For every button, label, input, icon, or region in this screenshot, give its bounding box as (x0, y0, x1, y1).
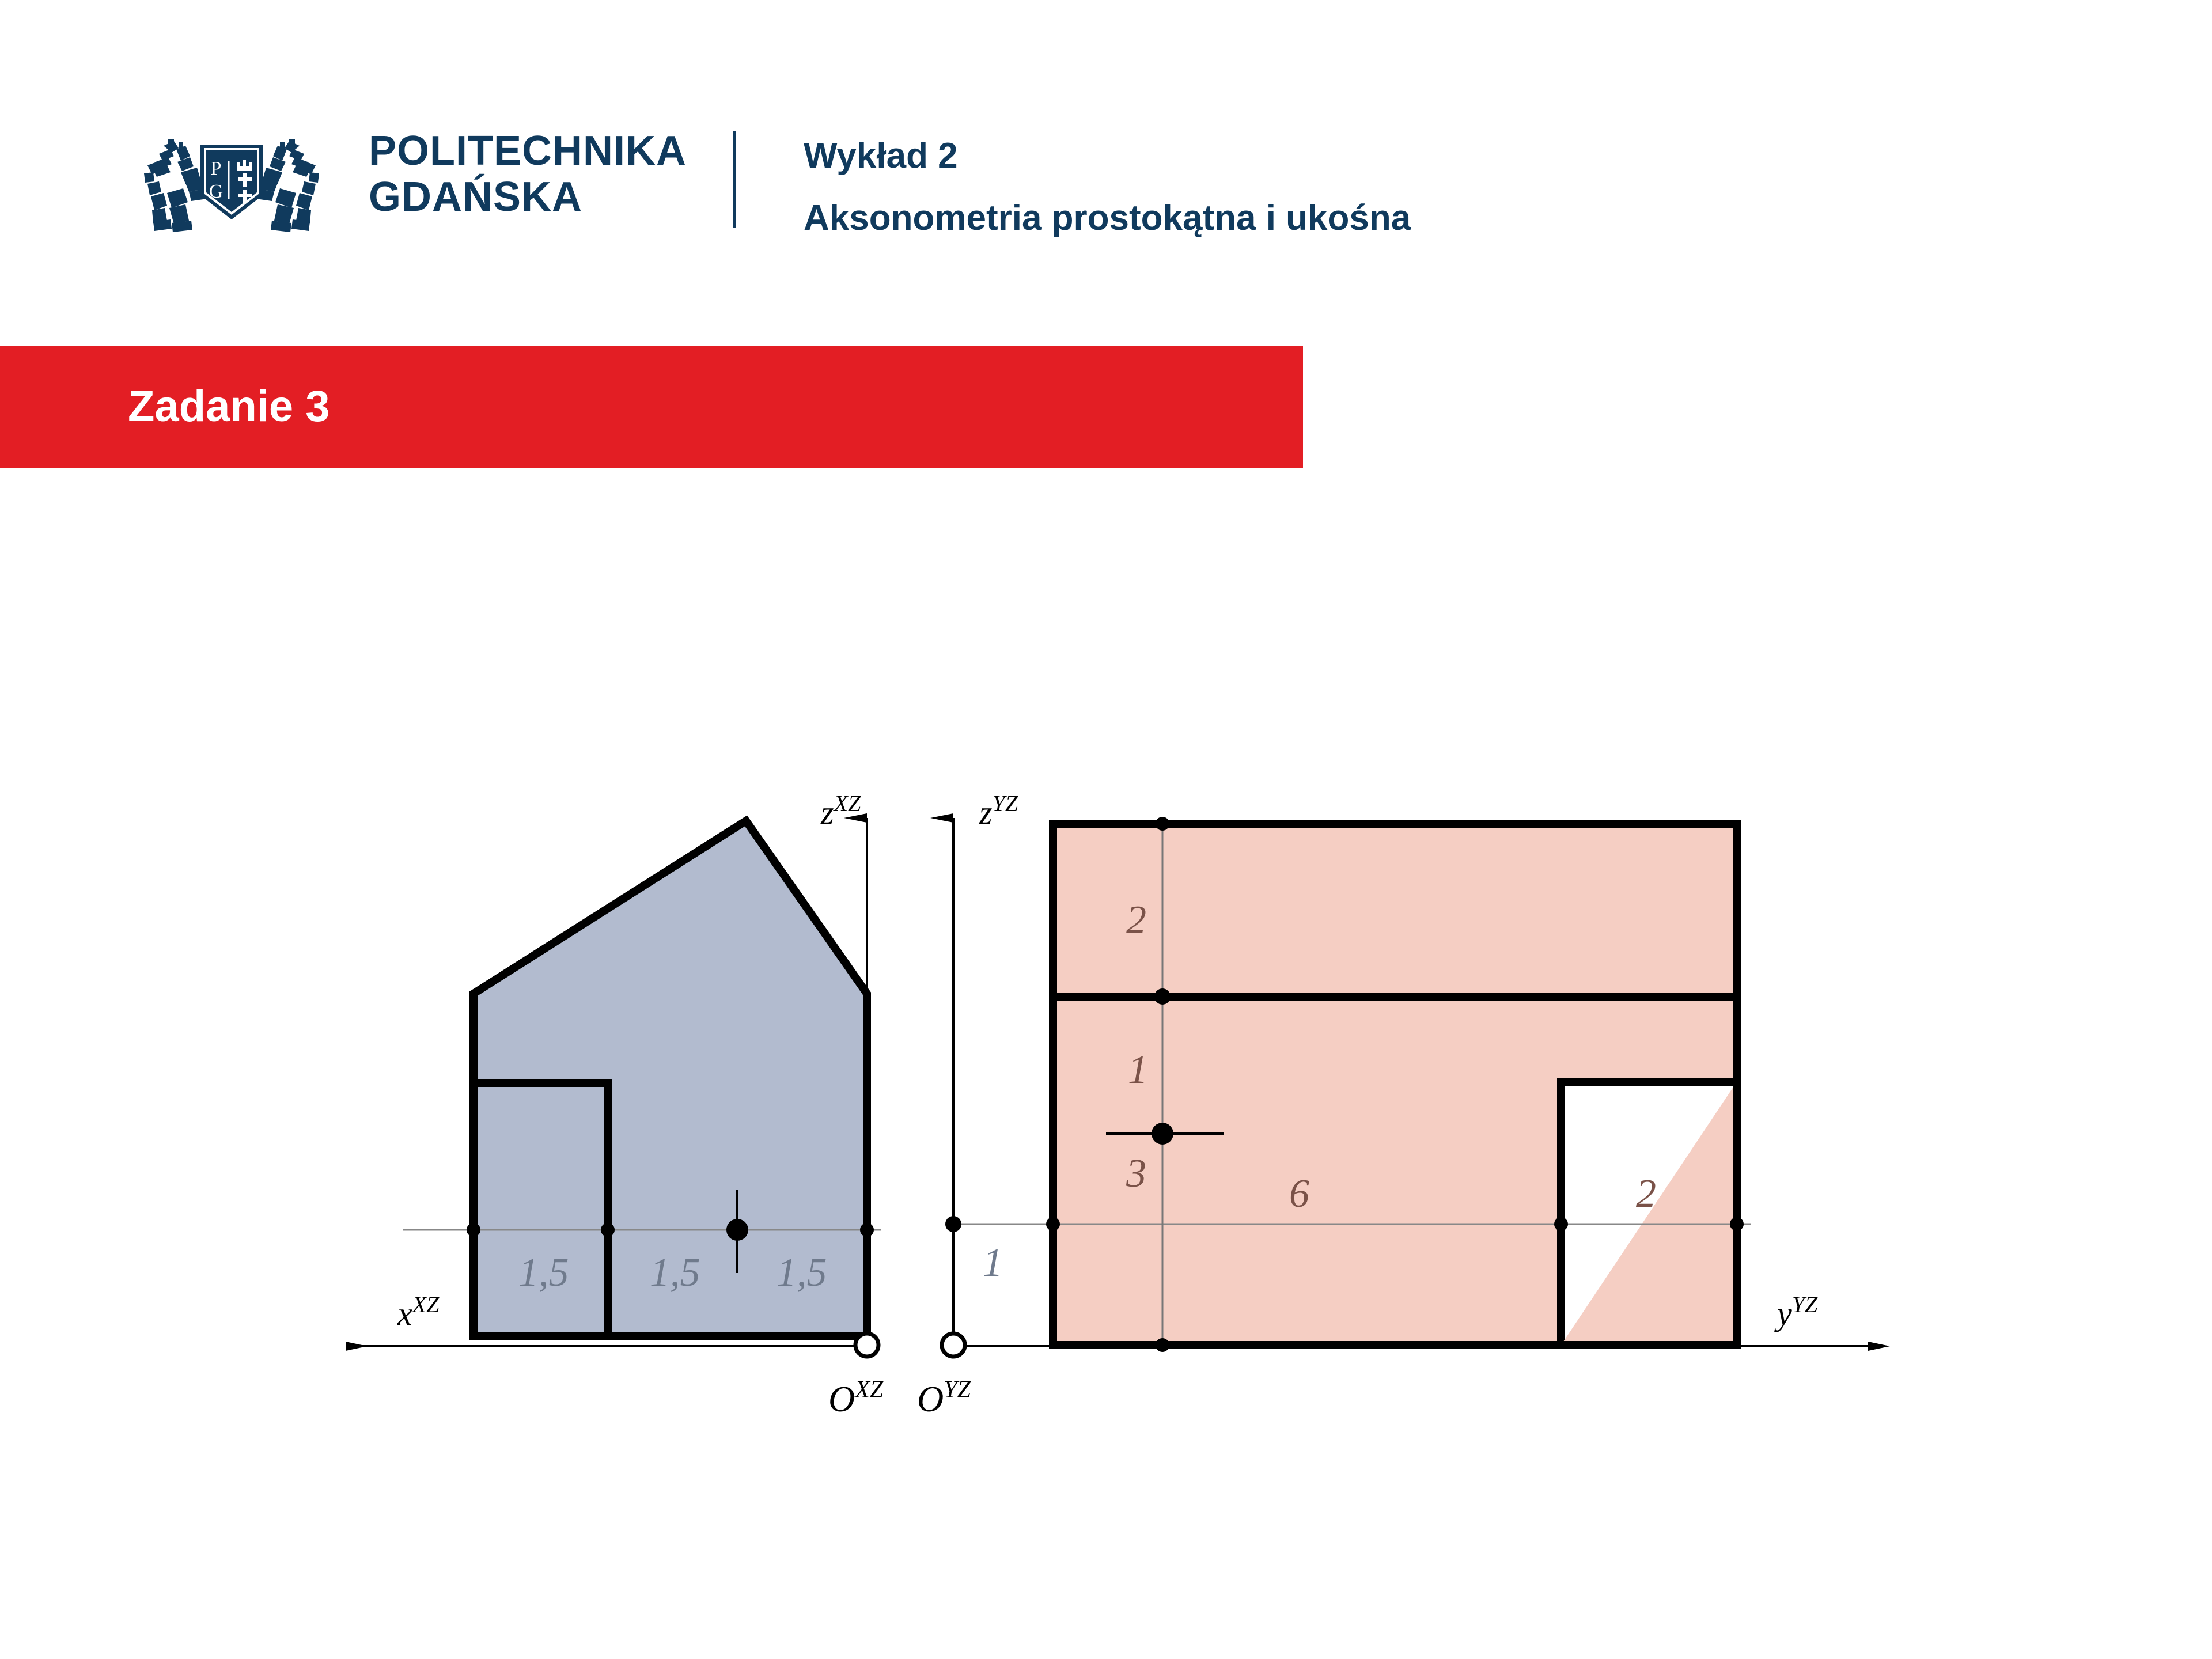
xz-x-axis-label: xXZ (397, 1291, 440, 1332)
xz-ref-dot-2 (601, 1223, 615, 1237)
xz-z-axis-label: zXZ (820, 790, 861, 831)
yz-dim-mid: 1 (1128, 1048, 1148, 1092)
projection-drawings-svg: zXZ xXZ OXZ 1,5 1,5 1,5 (0, 0, 2212, 1659)
xz-dim-3: 1,5 (777, 1251, 827, 1295)
yz-dim-top: 2 (1126, 898, 1146, 942)
xz-origin-marker (855, 1334, 878, 1357)
xz-projection: zXZ xXZ OXZ 1,5 1,5 1,5 (346, 790, 884, 1419)
xz-dim-1: 1,5 (518, 1251, 569, 1295)
yz-ref-dot-right-edge (1730, 1217, 1744, 1231)
xz-dim-2: 1,5 (650, 1251, 700, 1295)
yz-y-axis-label: yYZ (1774, 1291, 1818, 1332)
yz-z-axis-label: zYZ (979, 790, 1018, 831)
yz-ref-dot-notch (1554, 1217, 1568, 1231)
yz-dim-low: 3 (1126, 1152, 1146, 1196)
xz-ref-dot-center (726, 1219, 748, 1241)
technical-drawing-area: zXZ xXZ OXZ 1,5 1,5 1,5 (0, 0, 2212, 1659)
yz-dim-center: 6 (1289, 1172, 1309, 1216)
yz-dim-left: 1 (983, 1241, 1003, 1285)
xz-ref-dot-1 (467, 1223, 480, 1237)
yz-ref-dot-center (1152, 1123, 1173, 1145)
xz-origin-label: OXZ (828, 1377, 884, 1419)
yz-dim-notch: 2 (1636, 1172, 1656, 1216)
yz-ref-dot-left-edge (1046, 1217, 1060, 1231)
yz-ref-dot-top (1156, 817, 1169, 831)
yz-origin-label: OYZ (917, 1377, 971, 1419)
yz-projection: zYZ yYZ OYZ 2 1 3 1 6 2 (917, 790, 1868, 1419)
yz-origin-marker (942, 1334, 965, 1357)
xz-dimension-labels: 1,5 1,5 1,5 (518, 1251, 827, 1295)
yz-ref-dot-mid (1154, 988, 1171, 1005)
